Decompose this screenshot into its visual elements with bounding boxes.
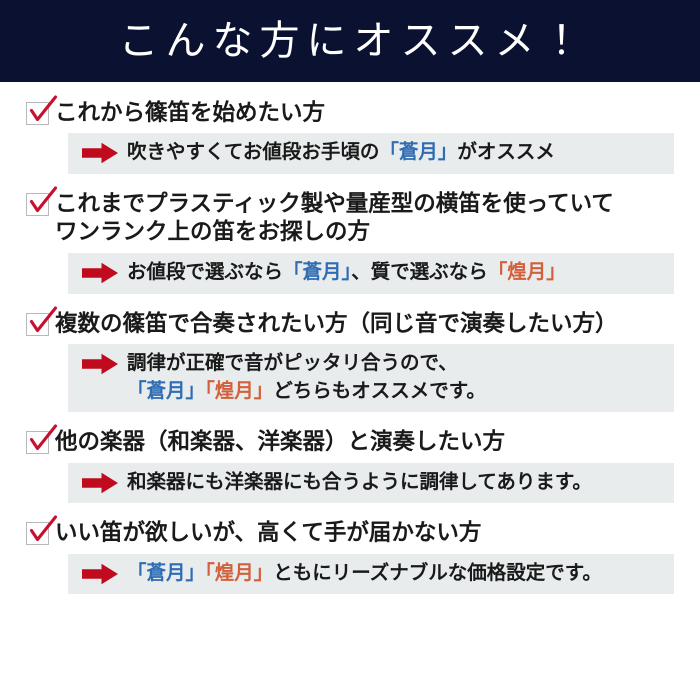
question-line: 他の楽器（和楽器、洋楽器）と演奏したい方: [55, 428, 505, 456]
arrow-right-icon: [82, 262, 118, 284]
arrow-right-icon: [82, 472, 118, 494]
answer-box: 調律が正確で音がピッタリ合うので、「蒼月」「煌月」どちらもオススメです。: [68, 344, 674, 412]
answer-indent-spacer: [82, 391, 118, 392]
question-line: これから篠笛を始めたい方: [55, 99, 325, 127]
arrow-right-icon: [82, 353, 118, 375]
answer-text: 吹きやすくてお値段お手頃の「蒼月」がオススメ: [127, 140, 555, 166]
answer-text: 和楽器にも洋楽器にも合うように調律してあります。: [127, 470, 592, 496]
recommendation-section: 複数の篠笛で合奏されたい方（同じ音で演奏したい方）調律が正確で音がピッタリ合うの…: [26, 309, 682, 413]
question-text: これから篠笛を始めたい方: [55, 98, 325, 127]
question-row: 他の楽器（和楽器、洋楽器）と演奏したい方: [26, 427, 682, 456]
answer-line: 吹きやすくてお値段お手頃の「蒼月」がオススメ: [82, 140, 664, 166]
answer-box: 「蒼月」「煌月」ともにリーズナブルな価格設定です。: [68, 554, 674, 595]
answer-text: お値段で選ぶなら「蒼月」、質で選ぶなら「煌月」: [127, 260, 566, 286]
arrow-right-icon: [82, 142, 118, 164]
question-row: いい笛が欲しいが、高くて手が届かない方: [26, 518, 682, 547]
answer-text: 「蒼月」「煌月」ともにリーズナブルな価格設定です。: [127, 561, 602, 587]
answer-text-part: どちらもオススメです。: [273, 380, 486, 402]
brand-name-kougetsu: 「煌月」: [488, 261, 566, 283]
recommendation-section: これから篠笛を始めたい方吹きやすくてお値段お手頃の「蒼月」がオススメ: [26, 98, 682, 174]
banner-header: こんな方にオススメ！: [0, 0, 700, 82]
brand-name-kougetsu: 「煌月」: [205, 562, 273, 584]
recommendation-section: 他の楽器（和楽器、洋楽器）と演奏したい方和楽器にも洋楽器にも合うように調律してあ…: [26, 427, 682, 503]
question-line: ワンランク上の笛をお探しの方: [55, 218, 614, 246]
question-line: これまでプラスティック製や量産型の横笛を使っていて: [55, 190, 614, 218]
checkbox-checked-icon[interactable]: [26, 431, 49, 454]
question-text: これまでプラスティック製や量産型の横笛を使っていてワンランク上の笛をお探しの方: [55, 189, 614, 247]
recommendation-section: これまでプラスティック製や量産型の横笛を使っていてワンランク上の笛をお探しの方お…: [26, 189, 682, 293]
brand-name-sougetsu: 「蒼月」: [127, 562, 205, 584]
question-row: これから篠笛を始めたい方: [26, 98, 682, 127]
sections-container: これから篠笛を始めたい方吹きやすくてお値段お手頃の「蒼月」がオススメこれまでプラ…: [0, 82, 700, 594]
answer-box: お値段で選ぶなら「蒼月」、質で選ぶなら「煌月」: [68, 253, 674, 294]
checkbox-checked-icon[interactable]: [26, 102, 49, 125]
answer-text: 調律が正確で音がピッタリ合うので、: [127, 351, 458, 377]
answer-text-part: お値段で選ぶなら: [127, 261, 283, 283]
answer-line: お値段で選ぶなら「蒼月」、質で選ぶなら「煌月」: [82, 260, 664, 286]
recommendation-section: いい笛が欲しいが、高くて手が届かない方「蒼月」「煌月」ともにリーズナブルな価格設…: [26, 518, 682, 594]
brand-name-sougetsu: 「蒼月」: [127, 380, 205, 402]
question-row: これまでプラスティック製や量産型の横笛を使っていてワンランク上の笛をお探しの方: [26, 189, 682, 247]
question-row: 複数の篠笛で合奏されたい方（同じ音で演奏したい方）: [26, 309, 682, 338]
checkbox-checked-icon[interactable]: [26, 193, 49, 216]
answer-text-part: ともにリーズナブルな価格設定です。: [273, 562, 602, 584]
answer-box: 吹きやすくてお値段お手頃の「蒼月」がオススメ: [68, 133, 674, 174]
answer-line: 「蒼月」「煌月」どちらもオススメです。: [82, 379, 664, 405]
arrow-right-icon: [82, 563, 118, 585]
brand-name-sougetsu: 「蒼月」: [283, 261, 351, 283]
brand-name-sougetsu: 「蒼月」: [379, 141, 457, 163]
question-line: 複数の篠笛で合奏されたい方（同じ音で演奏したい方）: [55, 310, 618, 338]
answer-text-part: 吹きやすくてお値段お手頃の: [127, 141, 379, 163]
question-text: 他の楽器（和楽器、洋楽器）と演奏したい方: [55, 427, 505, 456]
answer-line: 調律が正確で音がピッタリ合うので、: [82, 351, 664, 377]
answer-text-part: がオススメ: [457, 141, 555, 163]
answer-text-part: 調律が正確で音がピッタリ合うので、: [127, 352, 458, 374]
brand-name-kougetsu: 「煌月」: [205, 380, 273, 402]
question-line: いい笛が欲しいが、高くて手が届かない方: [55, 519, 481, 547]
answer-box: 和楽器にも洋楽器にも合うように調律してあります。: [68, 463, 674, 504]
answer-line: 「蒼月」「煌月」ともにリーズナブルな価格設定です。: [82, 561, 664, 587]
question-text: 複数の篠笛で合奏されたい方（同じ音で演奏したい方）: [55, 309, 618, 338]
answer-line: 和楽器にも洋楽器にも合うように調律してあります。: [82, 470, 664, 496]
recommendation-poster: こんな方にオススメ！ これから篠笛を始めたい方吹きやすくてお値段お手頃の「蒼月」…: [0, 0, 700, 700]
answer-text-part: 、質で選ぶなら: [351, 261, 488, 283]
page-title: こんな方にオススメ！: [112, 21, 589, 61]
answer-text: 「蒼月」「煌月」どちらもオススメです。: [127, 379, 486, 405]
question-text: いい笛が欲しいが、高くて手が届かない方: [55, 518, 481, 547]
answer-text-part: 和楽器にも洋楽器にも合うように調律してあります。: [127, 471, 592, 493]
checkbox-checked-icon[interactable]: [26, 313, 49, 336]
checkbox-checked-icon[interactable]: [26, 522, 49, 545]
